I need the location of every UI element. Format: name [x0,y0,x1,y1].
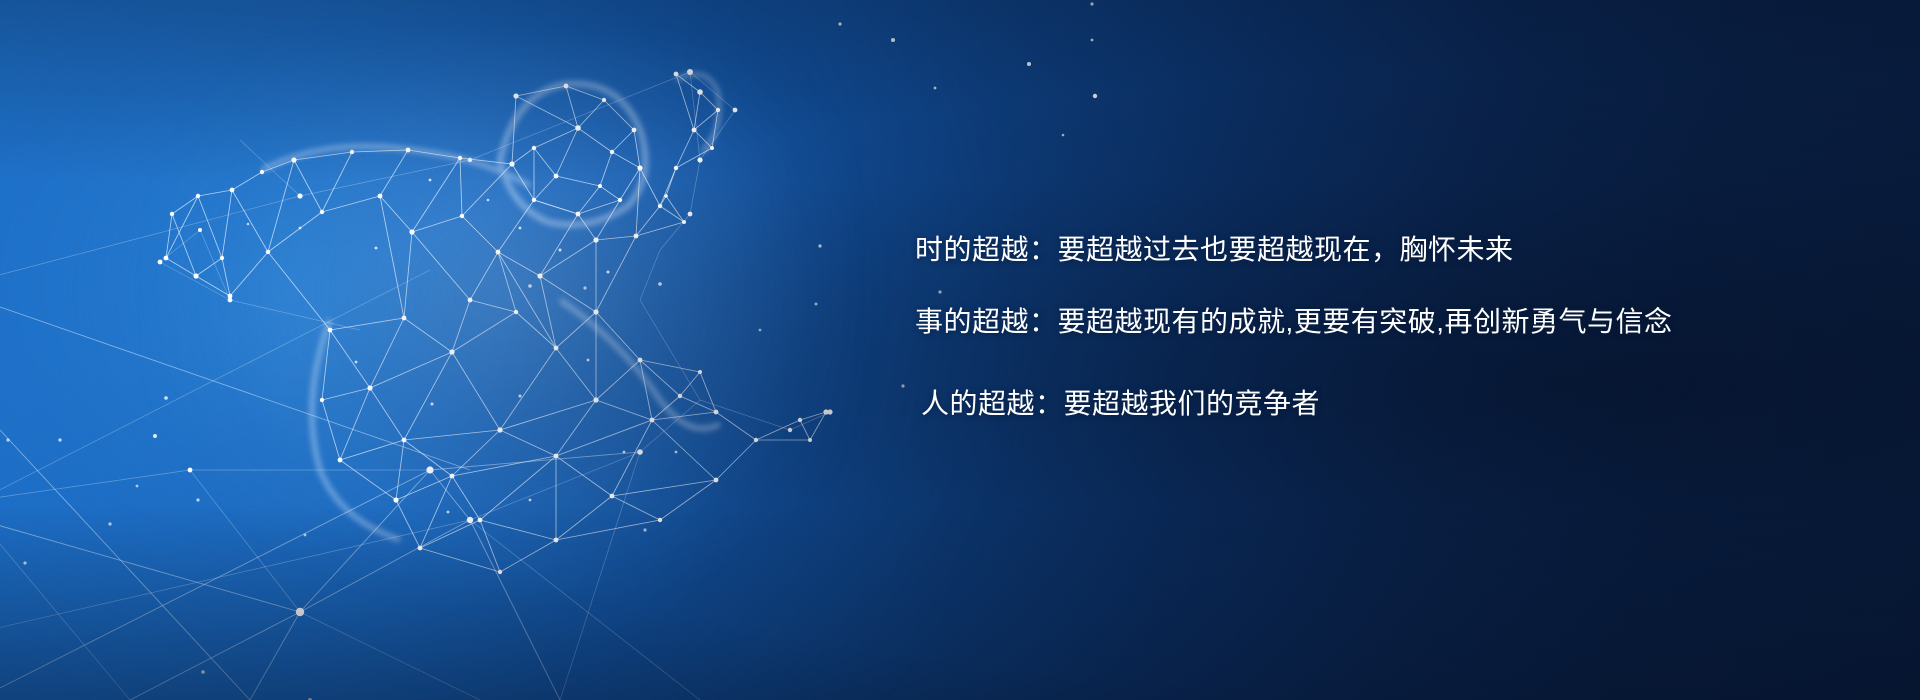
slogan-line-achievement: 事的超越：要超越现有的成就,更要有突破,再创新勇气与信念 [915,308,1815,336]
corporate-vision-banner: 时的超越：要超越过去也要超越现在，胸怀未来 事的超越：要超越现有的成就,更要有突… [0,0,1920,700]
slogan-line-people: 人的超越：要超越我们的竞争者 [921,390,1815,418]
slogan-text-block: 时的超越：要超越过去也要超越现在，胸怀未来 事的超越：要超越现有的成就,更要有突… [915,236,1815,418]
slogan-line-time: 时的超越：要超越过去也要超越现在，胸怀未来 [915,236,1815,264]
